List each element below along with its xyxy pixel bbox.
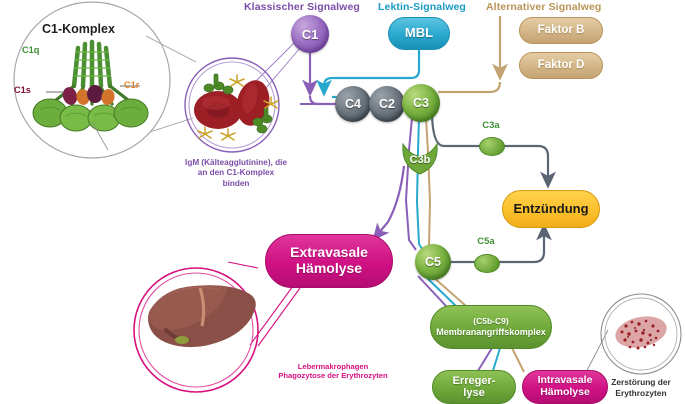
- igm-caption-line2: an den C1-Komplex: [160, 168, 312, 178]
- pathway-label-lectin: Lektin-Signalweg: [378, 1, 466, 13]
- box-extravasale-haemolyse[interactable]: Extravasale Hämolyse: [265, 234, 393, 288]
- node-c3a-label: C3a: [470, 120, 512, 131]
- c1-komplex-title: C1-Komplex: [42, 22, 115, 36]
- complement-pathway-diagram: Klassischer Signalweg Lektin-Signalweg A…: [0, 0, 685, 404]
- tag-c1q: C1q: [22, 45, 39, 55]
- extravasale-branch: [378, 166, 404, 234]
- node-c3a-shape[interactable]: [479, 137, 505, 156]
- igm-caption: IgM (Kälteagglutinine), die an den C1-Ko…: [160, 158, 312, 189]
- node-c3b-label: C3b: [399, 154, 441, 166]
- tag-c1s: C1s: [14, 85, 31, 95]
- liver-caption: Lebermakrophagen Phagozytose der Erythro…: [255, 362, 411, 381]
- mac-line1: (C5b-C9): [473, 317, 508, 327]
- extravasale-line2: Hämolyse: [296, 261, 362, 277]
- liver-caption-line2: Phagozytose der Erythrozyten: [255, 371, 411, 380]
- node-c5a-shape[interactable]: [474, 254, 500, 273]
- extravasale-line1: Extravasale: [290, 245, 368, 261]
- node-c3b[interactable]: C3b: [399, 142, 441, 176]
- erythro-caption: Zerstörung der Erythrozyten: [598, 377, 684, 398]
- node-c5[interactable]: C5: [415, 244, 451, 280]
- pathway-label-classic: Klassischer Signalweg: [244, 1, 360, 13]
- c1-komplex-illustration: [33, 42, 148, 150]
- mac-line2: Membranangriffskomplex: [436, 327, 546, 337]
- intravasale-line2: Hämolyse: [540, 387, 590, 399]
- box-faktor-d[interactable]: Faktor D: [519, 52, 603, 79]
- box-erregerlyse[interactable]: Erreger- lyse: [432, 370, 516, 404]
- box-mbl[interactable]: MBL: [388, 17, 450, 50]
- node-c5a-label: C5a: [465, 236, 507, 247]
- erreger-line2: lyse: [463, 387, 484, 399]
- erythrocyte-igm-illustration: [194, 74, 278, 140]
- node-c2[interactable]: C2: [369, 86, 405, 122]
- node-c3[interactable]: C3: [402, 84, 440, 122]
- liver-illustration: [148, 285, 256, 347]
- node-c4[interactable]: C4: [335, 86, 371, 122]
- box-entzuendung[interactable]: Entzündung: [502, 190, 600, 228]
- igm-caption-line3: binden: [160, 179, 312, 189]
- box-membranangriffskomplex[interactable]: (C5b-C9) Membranangriffskomplex: [430, 305, 552, 349]
- destroyed-erythrocyte-illustration: [612, 312, 669, 352]
- magnifier-leader-lines: [146, 36, 196, 132]
- erythro-caption-line2: Erythrozyten: [598, 388, 684, 399]
- igm-caption-line1: IgM (Kälteagglutinine), die: [160, 158, 312, 168]
- node-c1[interactable]: C1: [291, 15, 329, 53]
- erythro-caption-line1: Zerstörung der: [598, 377, 684, 388]
- lectin-pathway-line: [324, 50, 419, 97]
- box-intravasale-haemolyse[interactable]: Intravasale Hämolyse: [522, 370, 608, 404]
- pathway-label-alternative: Alternativer Signalweg: [486, 1, 601, 13]
- tag-c1r: C1r: [124, 80, 139, 90]
- box-faktor-b[interactable]: Faktor B: [519, 17, 603, 44]
- erreger-line1: Erreger-: [453, 375, 496, 387]
- liver-caption-line1: Lebermakrophagen: [255, 362, 411, 371]
